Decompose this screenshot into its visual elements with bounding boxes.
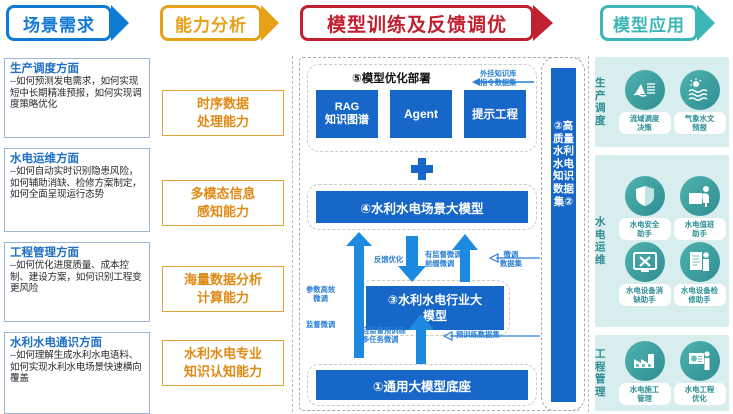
supervised-annotation: 有监督微调 前缀微调 (425, 250, 461, 268)
base-model-label: ①通用大模型底座 (373, 376, 471, 395)
app-tile[interactable]: 水电设备消 缺助手 (618, 242, 671, 306)
tools-screen-icon (625, 242, 665, 282)
scenario-title: 生产调度方面 (10, 62, 145, 76)
header-step-3[interactable]: 模型训练及反馈调优 (300, 5, 553, 41)
selfsup-line2: 多任务微调 (362, 335, 406, 344)
arrow-tip-icon (533, 5, 553, 41)
feedback-annotation: 反馈优化 (374, 255, 403, 264)
finetune-dataset-annotation: 微调 数据集 (500, 250, 522, 268)
app-tile-label: 水电安全 助手 (619, 218, 671, 240)
knowledge-dataset-bar[interactable]: ②高质量水利水电知识数据集② (551, 68, 576, 402)
industry-model-line2: 模型 (388, 308, 482, 324)
scenario-desc: --如何自动实时识别隐患风险，如何辅助消缺、检修方案制定，如何全面呈现运行态势 (10, 166, 145, 201)
tile-line1: 水电设备检 (681, 286, 718, 295)
arrow-tip-icon (111, 5, 129, 41)
app-group-engineering: 工程管理 水电施工 管理 (595, 335, 729, 411)
agent-box[interactable]: Agent (390, 90, 452, 138)
scenario-desc: --如何预测发电需求，如何实现短中长期精准预报，如何实现调度策略优化 (10, 76, 145, 111)
tile-line1: 流域调度 (630, 114, 660, 123)
tile-line1: 水电工程 (685, 385, 715, 394)
capability-line2: 计算能力 (184, 289, 262, 307)
param-efficient-annotation: 参数高效 微调 (306, 285, 335, 303)
scenario-title: 水电运维方面 (10, 152, 145, 166)
industry-model-line1: ③水利水电行业大 (388, 292, 482, 308)
capability-card[interactable]: 海量数据分析 计算能力 (162, 266, 284, 312)
capability-card[interactable]: 水利水电专业 知识认知能力 (162, 340, 284, 386)
app-tile[interactable]: 水电安全 助手 (618, 176, 671, 240)
deploy-stage-label: ⑤模型优化部署 (352, 70, 431, 86)
tile-line2: 预报 (692, 123, 707, 132)
param-efficient-line2: 微调 (306, 294, 335, 303)
app-tile[interactable]: 流域调度 决策 (618, 70, 671, 134)
base-model-box[interactable]: ①通用大模型底座 (316, 370, 528, 400)
tile-line2: 修助手 (688, 295, 710, 304)
scenario-desc: --如何优化进度质量、成本控制、建设方案，如何识别工程变更风险 (10, 260, 145, 295)
app-tile-label: 气象水文 预报 (674, 112, 726, 134)
dataset-column: ②高质量水利水电知识数据集② (541, 57, 585, 411)
finetune-data-line2: 数据集 (500, 259, 522, 268)
dam-icon (625, 70, 665, 110)
app-group-label: 生产调度 (595, 57, 615, 147)
scenario-column: 生产调度方面 --如何预测发电需求，如何实现短中长期精准预报，如何实现调度策略优… (4, 58, 152, 410)
app-tile-label: 水电施工 管理 (619, 383, 671, 405)
presentation-icon (680, 341, 720, 381)
scenario-card[interactable]: 生产调度方面 --如何预测发电需求，如何实现短中长期精准预报，如何实现调度策略优… (4, 58, 150, 138)
capability-line1: 多模态信息 (190, 185, 255, 203)
rag-box[interactable]: RAG 知识图谱 (316, 90, 378, 138)
tile-line1: 气象水文 (685, 114, 715, 123)
capability-line1: 水利水电专业 (184, 345, 262, 363)
app-group-ops: 水电运维 水电安全 助手 (595, 155, 729, 327)
header-step-4-label: 模型应用 (600, 5, 698, 41)
column-divider (588, 56, 589, 412)
rag-line1: RAG (325, 101, 369, 114)
capability-line2: 知识认知能力 (184, 363, 262, 381)
capability-line2: 处理能力 (197, 113, 249, 131)
scenario-desc: --如何理解生成水利水电语料、如何实现水利水电场景快速横向覆盖 (10, 350, 145, 385)
scene-model-box[interactable]: ④水利水电场景大模型 (316, 191, 528, 223)
header-step-1[interactable]: 场景需求 (6, 5, 129, 41)
duty-desk-icon (680, 176, 720, 216)
app-group-production: 生产调度 流域调度 决策 (595, 57, 729, 147)
selfsup-line1: 自监督预训练 (362, 326, 406, 335)
document-person-icon (680, 242, 720, 282)
plus-icon (411, 165, 433, 173)
arrow-tip-icon (261, 5, 279, 41)
application-column: 生产调度 流域调度 决策 (595, 57, 731, 411)
agent-label: Agent (404, 107, 438, 121)
header-step-3-label: 模型训练及反馈调优 (300, 5, 534, 41)
app-group-label: 水电运维 (595, 155, 615, 327)
factory-icon (625, 341, 665, 381)
app-tile-label: 水电设备消 缺助手 (619, 284, 671, 306)
app-group-label: 工程管理 (595, 335, 615, 411)
prompt-engineering-label: 提示工程 (472, 106, 518, 122)
weather-water-icon (680, 70, 720, 110)
app-tile-label: 水电工程 优化 (674, 383, 726, 405)
tile-line2: 助手 (692, 229, 707, 238)
arrow-tip-icon (697, 5, 715, 41)
scenario-card[interactable]: 工程管理方面 --如何优化进度质量、成本控制、建设方案，如何识别工程变更风险 (4, 242, 150, 322)
scenario-card[interactable]: 水利水电通识方面 --如何理解生成水利水电语料、如何实现水利水电场景快速横向覆盖 (4, 332, 150, 414)
header-step-2[interactable]: 能力分析 (160, 5, 279, 41)
tile-line2: 缺助手 (633, 295, 655, 304)
tile-line2: 管理 (637, 394, 652, 403)
column-divider (292, 56, 293, 412)
capability-line1: 时序数据 (197, 95, 249, 113)
capability-card[interactable]: 时序数据 处理能力 (162, 90, 284, 136)
tile-line2: 决策 (637, 123, 652, 132)
capability-column: 时序数据 处理能力 多模态信息 感知能力 海量数据分析 计算能力 水利水电专业 … (162, 58, 290, 410)
param-efficient-line1: 参数高效 (306, 285, 335, 294)
tile-line1: 水电施工 (630, 385, 660, 394)
app-tile-label: 水电值班 助手 (674, 218, 726, 240)
shield-icon (625, 176, 665, 216)
industry-model-box[interactable]: ③水利水电行业大 模型 (366, 286, 504, 330)
app-tile[interactable]: 水电工程 优化 (673, 341, 726, 405)
capability-line1: 海量数据分析 (184, 271, 262, 289)
scene-model-label: ④水利水电场景大模型 (360, 198, 483, 217)
header-step-2-label: 能力分析 (160, 5, 262, 41)
finetune-data-line1: 微调 (500, 250, 522, 259)
prompt-engineering-box[interactable]: 提示工程 (464, 90, 526, 138)
tile-line2: 优化 (692, 394, 707, 403)
process-header: 场景需求 能力分析 模型训练及反馈调优 模型应用 (0, 0, 733, 46)
external-kb-line1: 外挂知识库 (480, 69, 516, 78)
capability-line2: 感知能力 (190, 203, 255, 221)
scenario-title: 水利水电通识方面 (10, 336, 145, 350)
external-kb-line2: 指令数据集 (480, 78, 516, 87)
app-tile-label: 水电设备检 修助手 (674, 284, 726, 306)
selfsup-annotation: 自监督预训练 多任务微调 (362, 326, 406, 344)
external-kb-note: 外挂知识库 指令数据集 (480, 69, 516, 87)
tile-line1: 水电安全 (630, 220, 660, 229)
app-tile[interactable]: 水电施工 管理 (618, 341, 671, 405)
capability-card[interactable]: 多模态信息 感知能力 (162, 180, 284, 226)
scenario-title: 工程管理方面 (10, 246, 145, 260)
app-tile-label: 流域调度 决策 (619, 112, 671, 134)
app-tile[interactable]: 气象水文 预报 (673, 70, 726, 134)
header-step-4[interactable]: 模型应用 (600, 5, 715, 41)
app-tile[interactable]: 水电值班 助手 (673, 176, 726, 240)
rag-line2: 知识图谱 (325, 114, 369, 127)
pretrain-dataset-annotation: 预训练数据集 (456, 330, 500, 339)
header-step-1-label: 场景需求 (6, 5, 112, 41)
supervised-line2: 前缀微调 (425, 259, 461, 268)
training-panel: ⑤模型优化部署 RAG 知识图谱 Agent 提示工程 外挂知识库 指令数据集 … (299, 57, 581, 411)
tile-line1: 水电设备消 (626, 286, 663, 295)
supervised-ft-annotation: 监督微调 (306, 320, 335, 329)
tile-line1: 水电值班 (685, 220, 715, 229)
supervised-line1: 有监督微调 (425, 250, 461, 259)
app-tile[interactable]: 水电设备检 修助手 (673, 242, 726, 306)
scenario-card[interactable]: 水电运维方面 --如何自动实时识别隐患风险，如何辅助消缺、检修方案制定，如何全面… (4, 148, 150, 232)
tile-line2: 助手 (637, 229, 652, 238)
